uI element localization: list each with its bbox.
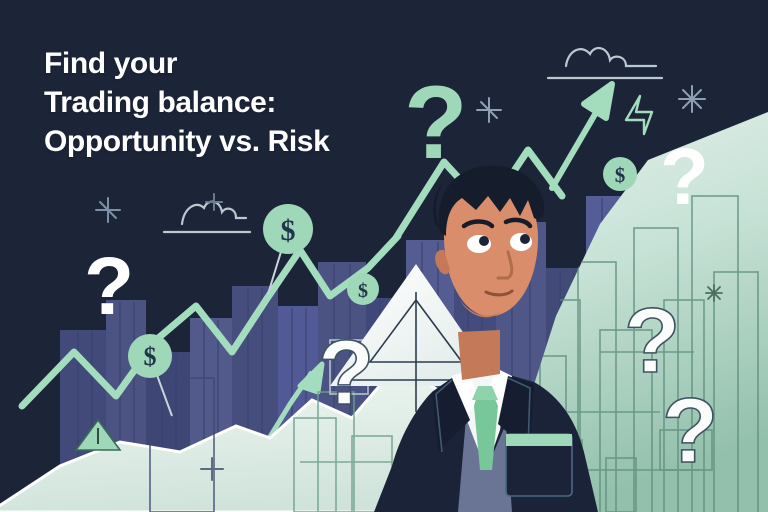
dollar-coin-3: $ bbox=[347, 273, 379, 305]
hero-illustration: $ $ $ $ bbox=[0, 0, 768, 512]
sparkle-mint-right bbox=[706, 285, 722, 301]
svg-text:$: $ bbox=[615, 163, 626, 187]
question-mark-green-large: ? bbox=[404, 65, 468, 181]
trading-balance-banner: $ $ $ $ bbox=[0, 0, 768, 512]
question-mark-outline-right-lower: ? bbox=[662, 380, 718, 482]
suit-pocket bbox=[506, 434, 572, 496]
question-mark-white-left: ? bbox=[84, 241, 134, 332]
sparkle-top-right bbox=[679, 86, 705, 112]
question-mark-white-top-right: ? bbox=[660, 132, 709, 221]
svg-text:$: $ bbox=[358, 280, 368, 302]
dollar-coin-4: $ bbox=[603, 157, 637, 191]
question-mark-outline-right-upper: ? bbox=[624, 290, 680, 392]
svg-text:$: $ bbox=[281, 214, 296, 247]
svg-text:$: $ bbox=[144, 342, 157, 371]
question-mark-outline-center: ? bbox=[318, 322, 374, 424]
